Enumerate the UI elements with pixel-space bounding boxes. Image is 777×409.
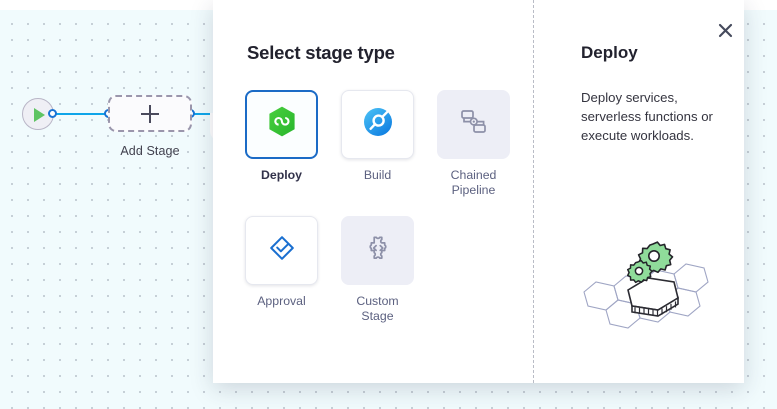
stage-type-card[interactable] <box>245 216 318 285</box>
close-button[interactable] <box>712 20 738 46</box>
stage-type-label: Custom Stage <box>341 294 414 324</box>
stage-type-label: Approval <box>245 294 318 309</box>
deploy-hexagon-icon <box>266 105 298 144</box>
stage-type-option-build[interactable]: Build <box>341 90 414 198</box>
detail-title: Deploy <box>581 43 638 63</box>
select-stage-type-modal: Select stage type <box>213 0 744 383</box>
stage-type-card[interactable] <box>437 90 510 159</box>
stage-type-option-approval[interactable]: Approval <box>245 216 318 324</box>
pipeline-edge <box>52 113 110 115</box>
stage-type-label: Chained Pipeline <box>437 168 510 198</box>
chained-pipeline-icon <box>459 108 489 141</box>
connector-port[interactable] <box>48 109 57 118</box>
stage-type-detail-pane: Deploy Deploy services, serverless funct… <box>534 0 744 383</box>
detail-description: Deploy services, serverless functions or… <box>581 88 741 145</box>
hexagon-platform-gears-illustration <box>566 218 736 338</box>
approval-diamond-check-icon <box>267 233 297 268</box>
stage-type-card[interactable] <box>341 216 414 285</box>
stage-type-label: Deploy <box>245 168 318 183</box>
stage-type-picker-pane: Select stage type <box>213 0 533 383</box>
stage-type-option-deploy[interactable]: Deploy <box>245 90 318 198</box>
modal-title: Select stage type <box>247 42 395 64</box>
stage-type-card[interactable] <box>245 90 318 159</box>
build-magnifier-icon <box>362 106 394 143</box>
stage-type-grid: Deploy <box>245 90 513 324</box>
add-stage-node[interactable] <box>108 95 192 132</box>
pipeline-stage-type-screen: Add Stage Select stage type <box>0 0 777 409</box>
play-icon <box>34 108 45 122</box>
close-icon <box>717 22 734 44</box>
stage-type-card[interactable] <box>341 90 414 159</box>
stage-type-option-chained-pipeline[interactable]: Chained Pipeline <box>437 90 510 198</box>
stage-type-label: Build <box>341 168 414 183</box>
plus-icon <box>149 105 151 123</box>
stage-type-option-custom-stage[interactable]: Custom Stage <box>341 216 414 324</box>
custom-stage-code-gear-icon <box>363 233 393 268</box>
add-stage-label: Add Stage <box>108 144 192 158</box>
